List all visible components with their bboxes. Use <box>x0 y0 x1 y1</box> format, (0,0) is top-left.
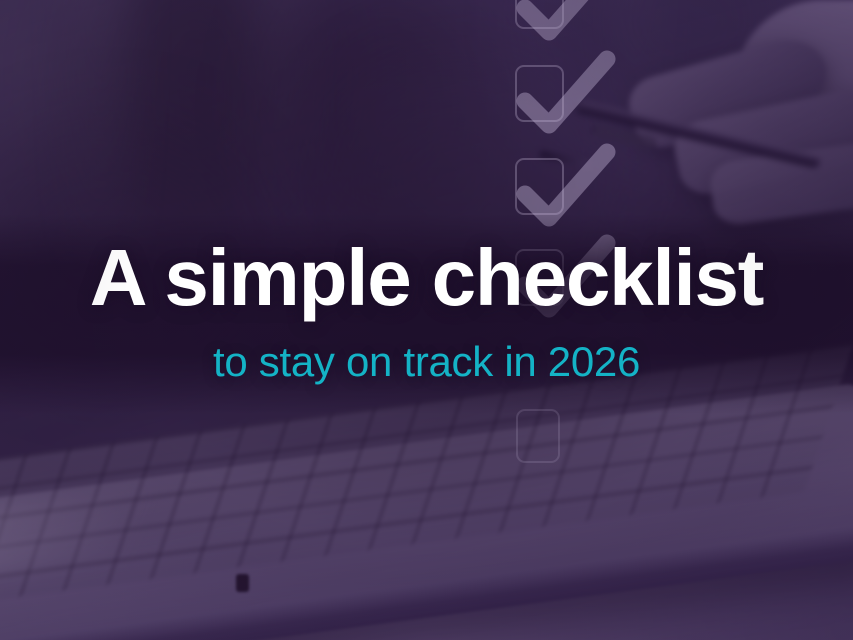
headline: A simple checklist <box>0 236 853 321</box>
subheadline: to stay on track in 2026 <box>0 339 853 385</box>
checkbox-outline <box>516 409 560 463</box>
checkmark-icon <box>511 49 621 149</box>
poster-text-block: A simple checklist to stay on track in 2… <box>0 236 853 385</box>
checkmark-icon <box>511 0 621 56</box>
poster-canvas: A simple checklist to stay on track in 2… <box>0 0 853 640</box>
